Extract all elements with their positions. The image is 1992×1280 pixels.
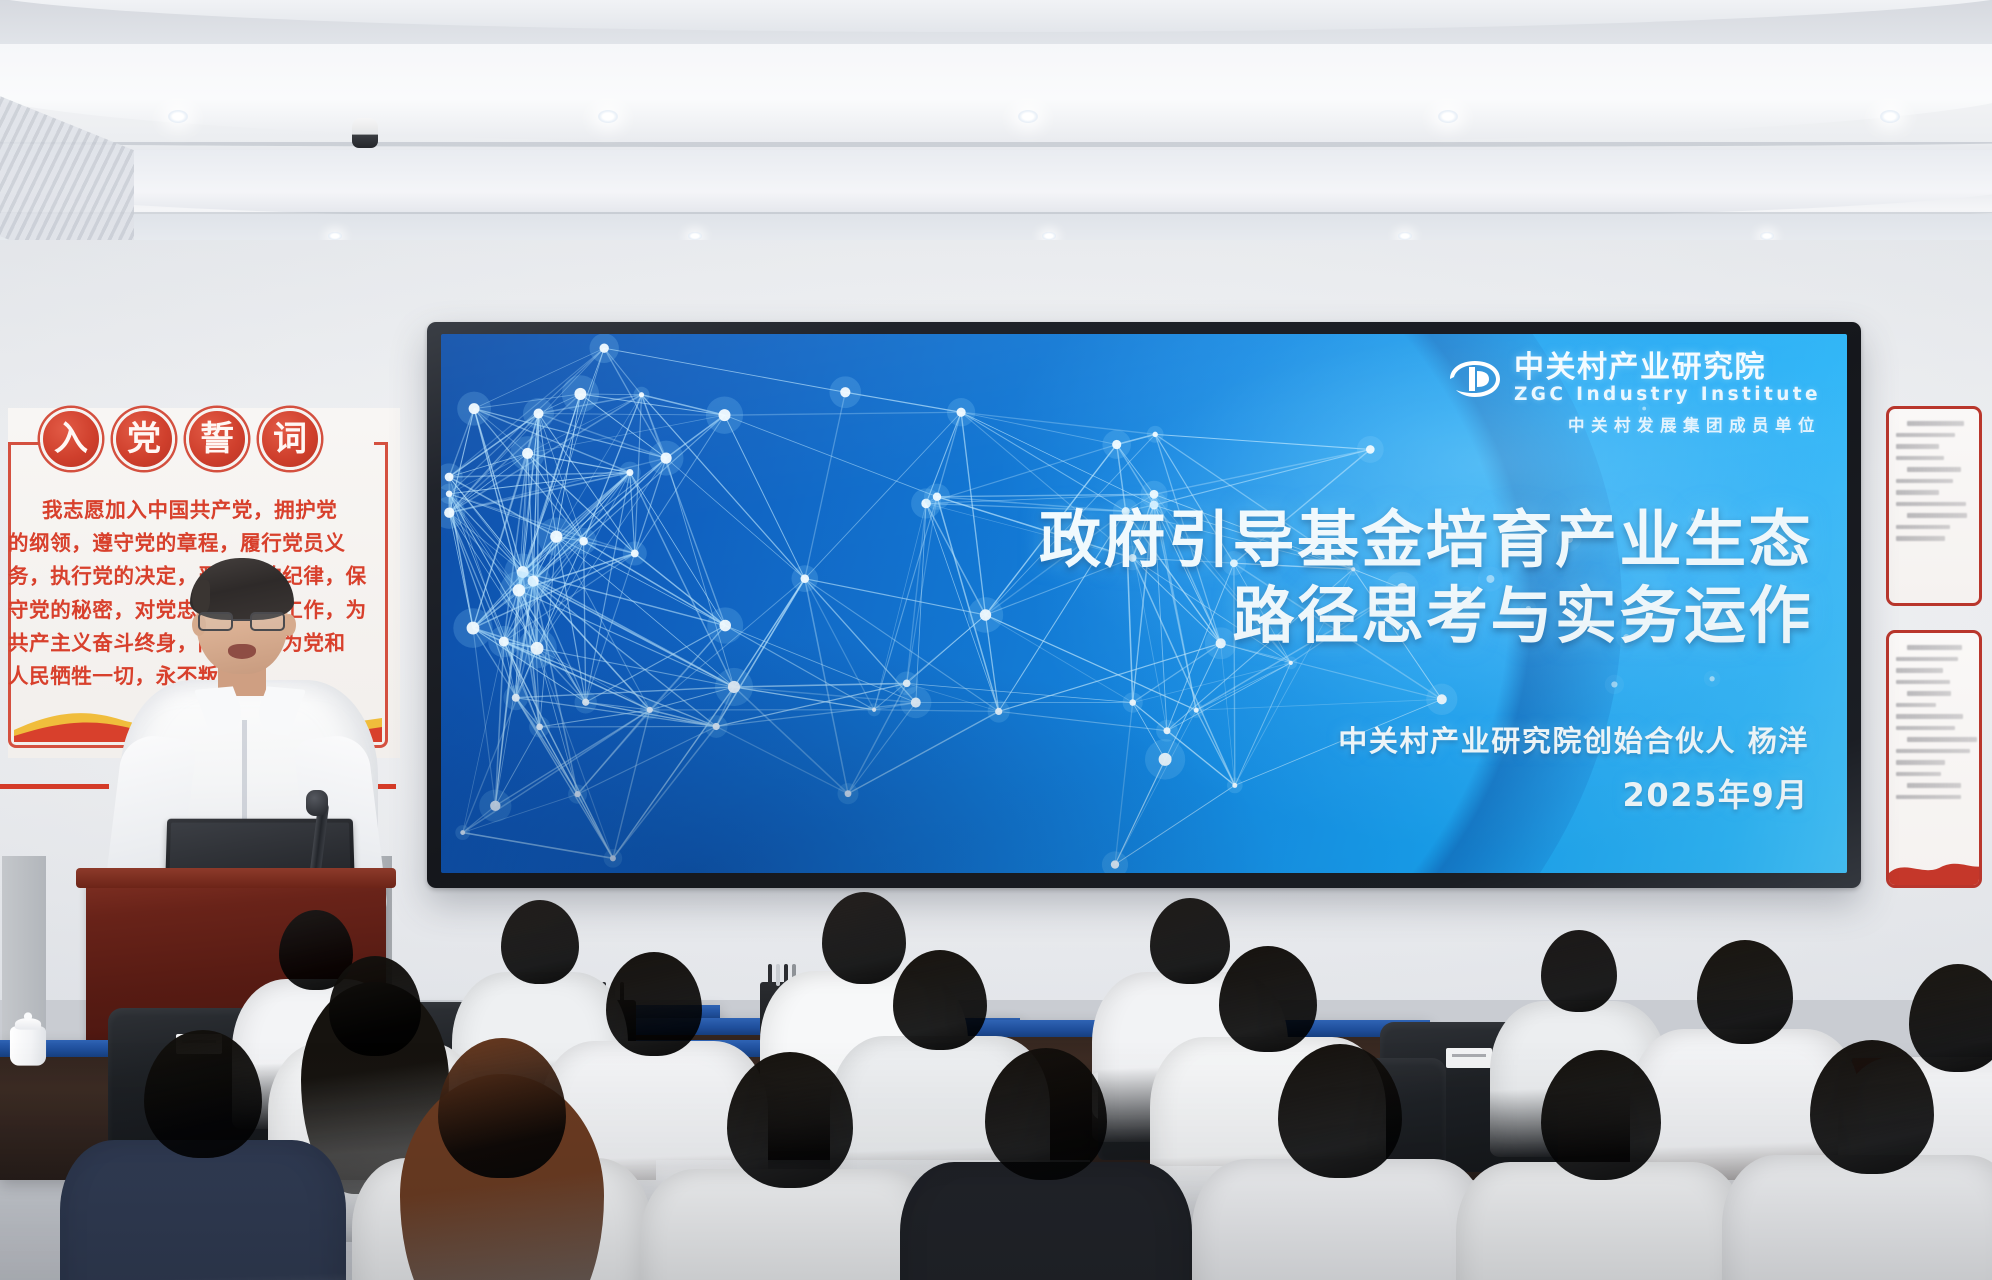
recessed-downlight: [1438, 110, 1458, 123]
ceiling: [0, 0, 1992, 268]
panel-text-line: [1896, 772, 1941, 777]
panel-text-line: [1896, 726, 1955, 731]
panel-text-line: [1896, 714, 1963, 719]
panel-wave-decoration: [1889, 851, 1979, 885]
panel-text-line: [1896, 456, 1944, 461]
wall-regulation-panel-top: [1886, 406, 1982, 606]
presenter-mouth: [228, 644, 256, 659]
recessed-downlight: [598, 110, 618, 123]
ceiling-band-1: [0, 0, 1992, 32]
slide-date: 2025年9月: [1338, 767, 1809, 823]
panel-text-lines: [1896, 421, 1972, 548]
glasses-lens-right: [250, 612, 285, 631]
recessed-downlight: [1018, 110, 1038, 123]
recessed-downlight: [1042, 232, 1056, 240]
led-presentation-screen[interactable]: 中关村产业研究院 ZGC Industry Institute 中关村发展集团成…: [427, 322, 1861, 888]
lidded-teacup: [10, 1026, 46, 1065]
panel-text-line: [1907, 421, 1964, 426]
panel-text-line: [1907, 467, 1962, 472]
recessed-downlight: [1880, 110, 1900, 123]
oath-badge-2: 誓: [186, 408, 248, 470]
panel-text-line: [1896, 795, 1961, 800]
zgc-logo-block: 中关村产业研究院 ZGC Industry Institute 中关村发展集团成…: [1447, 353, 1821, 436]
oath-line-0: 我志愿加入中国共产党，拥护党: [8, 494, 388, 527]
panel-text-line: [1896, 760, 1945, 765]
audience-head: [501, 900, 579, 984]
slide-title: 政府引导基金培育产业生态路径思考与实务运作: [1039, 502, 1813, 653]
oath-badge-1: 党: [113, 408, 175, 470]
glasses-bridge: [233, 619, 250, 621]
panel-text-line: [1896, 680, 1950, 685]
panel-text-line: [1896, 490, 1939, 495]
podium-top-edge: [76, 868, 396, 888]
panel-text-line: [1896, 525, 1950, 530]
audience-torso: [1722, 1155, 1992, 1280]
logo-chinese-name: 中关村产业研究院: [1514, 353, 1766, 383]
dome-security-camera: [352, 118, 378, 148]
chair-label: [1446, 1048, 1492, 1068]
panel-text-line: [1896, 444, 1939, 449]
ceiling-shadow-line-1: [0, 142, 1992, 147]
panel-text-line: [1896, 536, 1945, 541]
panel-text-line: [1896, 703, 1936, 708]
recessed-downlight: [1398, 232, 1412, 240]
ceiling-band-2: [0, 44, 1992, 144]
wall-regulation-panel-bottom: [1886, 630, 1982, 888]
oath-line-1: 的纲领，遵守党的章程，履行党员义: [8, 527, 388, 560]
glasses-lens-left: [198, 612, 233, 631]
slide-title-line-0: 政府引导基金培育产业生态: [1039, 502, 1813, 578]
slide-presenter: 中关村产业研究院创始合伙人 杨洋: [1338, 716, 1809, 767]
slide-credit-block: 中关村产业研究院创始合伙人 杨洋 2025年9月: [1338, 716, 1809, 823]
slide-title-line-1: 路径思考与实务运作: [1039, 578, 1813, 654]
panel-text-line: [1896, 479, 1953, 484]
audience-torso: [60, 1140, 346, 1280]
panel-text-line: [1896, 657, 1958, 662]
conference-room-photo: 入党誓词 我志愿加入中国共产党，拥护党的纲领，遵守党的章程，履行党员义务，执行党…: [0, 0, 1992, 1280]
panel-text-line: [1896, 433, 1955, 438]
audience-head: [1150, 898, 1230, 984]
audience-head: [893, 950, 987, 1050]
panel-text-lines: [1896, 645, 1972, 806]
audience-head: [1541, 930, 1617, 1012]
audience-head: [822, 892, 906, 984]
glasses-icon: [196, 612, 288, 631]
panel-text-line: [1907, 737, 1977, 742]
panel-text-line: [1907, 783, 1962, 788]
zgc-logo-mark: [1447, 359, 1503, 399]
panel-text-line: [1907, 691, 1952, 696]
podium-microphone-head: [306, 790, 328, 816]
oath-badge-3: 词: [259, 408, 321, 470]
oath-title-badges: 入党誓词: [40, 408, 321, 470]
recessed-downlight: [328, 232, 342, 240]
logo-subtitle: 中关村发展集团成员单位: [1568, 412, 1821, 436]
oath-badge-0: 入: [40, 408, 102, 470]
screen-display-area[interactable]: 中关村产业研究院 ZGC Industry Institute 中关村发展集团成…: [441, 334, 1847, 873]
recessed-downlight: [1760, 232, 1774, 240]
panel-text-line: [1896, 502, 1966, 507]
logo-english-name: ZGC Industry Institute: [1514, 386, 1821, 405]
pen: [768, 964, 772, 986]
panel-text-line: [1896, 668, 1943, 673]
presenter-hair: [190, 558, 294, 620]
pen: [776, 964, 780, 986]
recessed-downlight: [688, 232, 702, 240]
panel-text-line: [1907, 645, 1962, 650]
panel-text-line: [1896, 749, 1970, 754]
ceiling-band-3: [0, 150, 1992, 220]
audience-head: [329, 956, 421, 1056]
panel-text-line: [1907, 513, 1967, 518]
recessed-downlight: [168, 110, 188, 123]
